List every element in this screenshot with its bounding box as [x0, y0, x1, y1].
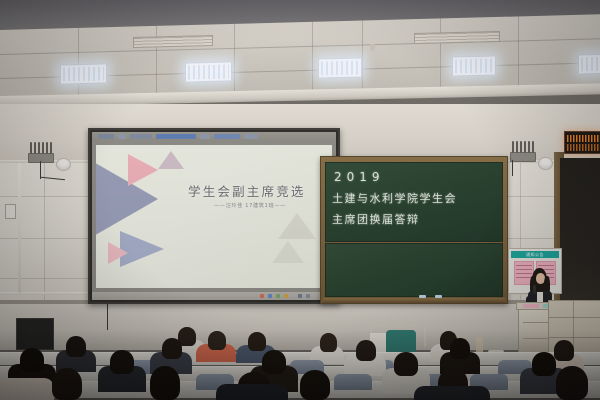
- audience-head: [356, 340, 376, 361]
- device-cable: [512, 160, 513, 176]
- audience-head: [262, 350, 286, 374]
- audience-person: [216, 384, 288, 400]
- doorway[interactable]: [560, 158, 600, 308]
- projection-screen: 学生会副主席竞选 ——汪玲佳 17建筑1班——: [88, 128, 340, 304]
- presentation-slide: 学生会副主席竞选 ——汪玲佳 17建筑1班——: [96, 145, 332, 288]
- classroom-photo: 学生会副主席竞选 ——汪玲佳 17建筑1班—— 2019 土建与水利学院学生会 …: [0, 0, 600, 400]
- chalk-tray: [323, 298, 505, 303]
- audience-head: [394, 352, 418, 376]
- screen-pull-cord[interactable]: [107, 300, 108, 330]
- signal-jammer-device: [510, 147, 534, 160]
- lectern-paper: [523, 304, 539, 308]
- microphone-icon: [533, 285, 536, 294]
- notice-board-header-text: 通知公告: [511, 251, 559, 258]
- projected-image: 学生会副主席竞选 ——汪玲佳 17建筑1班——: [92, 132, 336, 300]
- audience-head: [66, 336, 86, 357]
- audience-person: [0, 378, 54, 400]
- slide-shape-triangle-pink: [128, 154, 158, 186]
- audience-head: [162, 338, 182, 359]
- blackboard-line: 2019: [334, 170, 385, 184]
- ceiling-light: [452, 55, 496, 76]
- wifi-access-point-icon: [56, 158, 71, 171]
- teal-chair: [386, 330, 416, 352]
- floor-loudspeaker: [16, 318, 54, 350]
- windows-taskbar: [92, 292, 336, 300]
- notice-board-header: 通知公告: [511, 251, 559, 258]
- wall-lower: [0, 300, 600, 350]
- wifi-access-point-icon: [538, 157, 553, 170]
- wall-switch-box[interactable]: [5, 204, 16, 219]
- powerpoint-ribbon: [92, 132, 336, 141]
- ceiling-light: [578, 53, 600, 74]
- slide-subtitle: ——汪玲佳 17建筑1班——: [214, 202, 286, 209]
- ceiling-light: [185, 61, 232, 82]
- audience-head: [52, 368, 82, 400]
- blackboard: 2019 土建与水利学院学生会 主席团换届答辩: [320, 156, 508, 304]
- blackboard-line: 土建与水利学院学生会: [332, 190, 457, 206]
- audience-head: [320, 333, 337, 352]
- audience-head: [110, 350, 134, 374]
- slide-shape-outline-triangle: [272, 241, 304, 263]
- ceiling-light: [318, 57, 362, 78]
- blackboard-line: 主席团换届答辩: [332, 211, 420, 227]
- audience-head: [150, 366, 180, 400]
- audience-head: [450, 338, 470, 359]
- audience-head: [554, 340, 574, 361]
- slide-shape-triangle-pink: [108, 242, 128, 264]
- chair-stand: [424, 325, 426, 347]
- blackboard-panel-bottom: [325, 243, 503, 297]
- slide-title: 学生会副主席竞选: [188, 181, 306, 200]
- ceiling-light: [60, 63, 107, 84]
- audience-person: [414, 386, 490, 400]
- audience-head: [208, 331, 226, 350]
- audience-head: [532, 352, 556, 376]
- smoke-detector-icon: [370, 44, 375, 51]
- audience-head: [556, 366, 588, 400]
- signal-jammer-device: [28, 148, 52, 161]
- ceiling-air-vent: [414, 31, 500, 44]
- led-scrolling-display: [564, 131, 600, 154]
- chair-stand: [368, 325, 428, 327]
- audience-head: [20, 348, 44, 372]
- audience-head: [300, 370, 330, 400]
- audience-head: [248, 332, 266, 351]
- slide-shape-outline-triangle: [278, 213, 316, 239]
- blackboard-panel-top: 2019 土建与水利学院学生会 主席团换届答辩: [325, 162, 503, 242]
- ceiling-air-vent: [133, 35, 213, 48]
- slide-shape-triangle-pale: [158, 151, 184, 169]
- wall-conduit-vertical: [18, 163, 21, 293]
- seat-back: [334, 374, 372, 390]
